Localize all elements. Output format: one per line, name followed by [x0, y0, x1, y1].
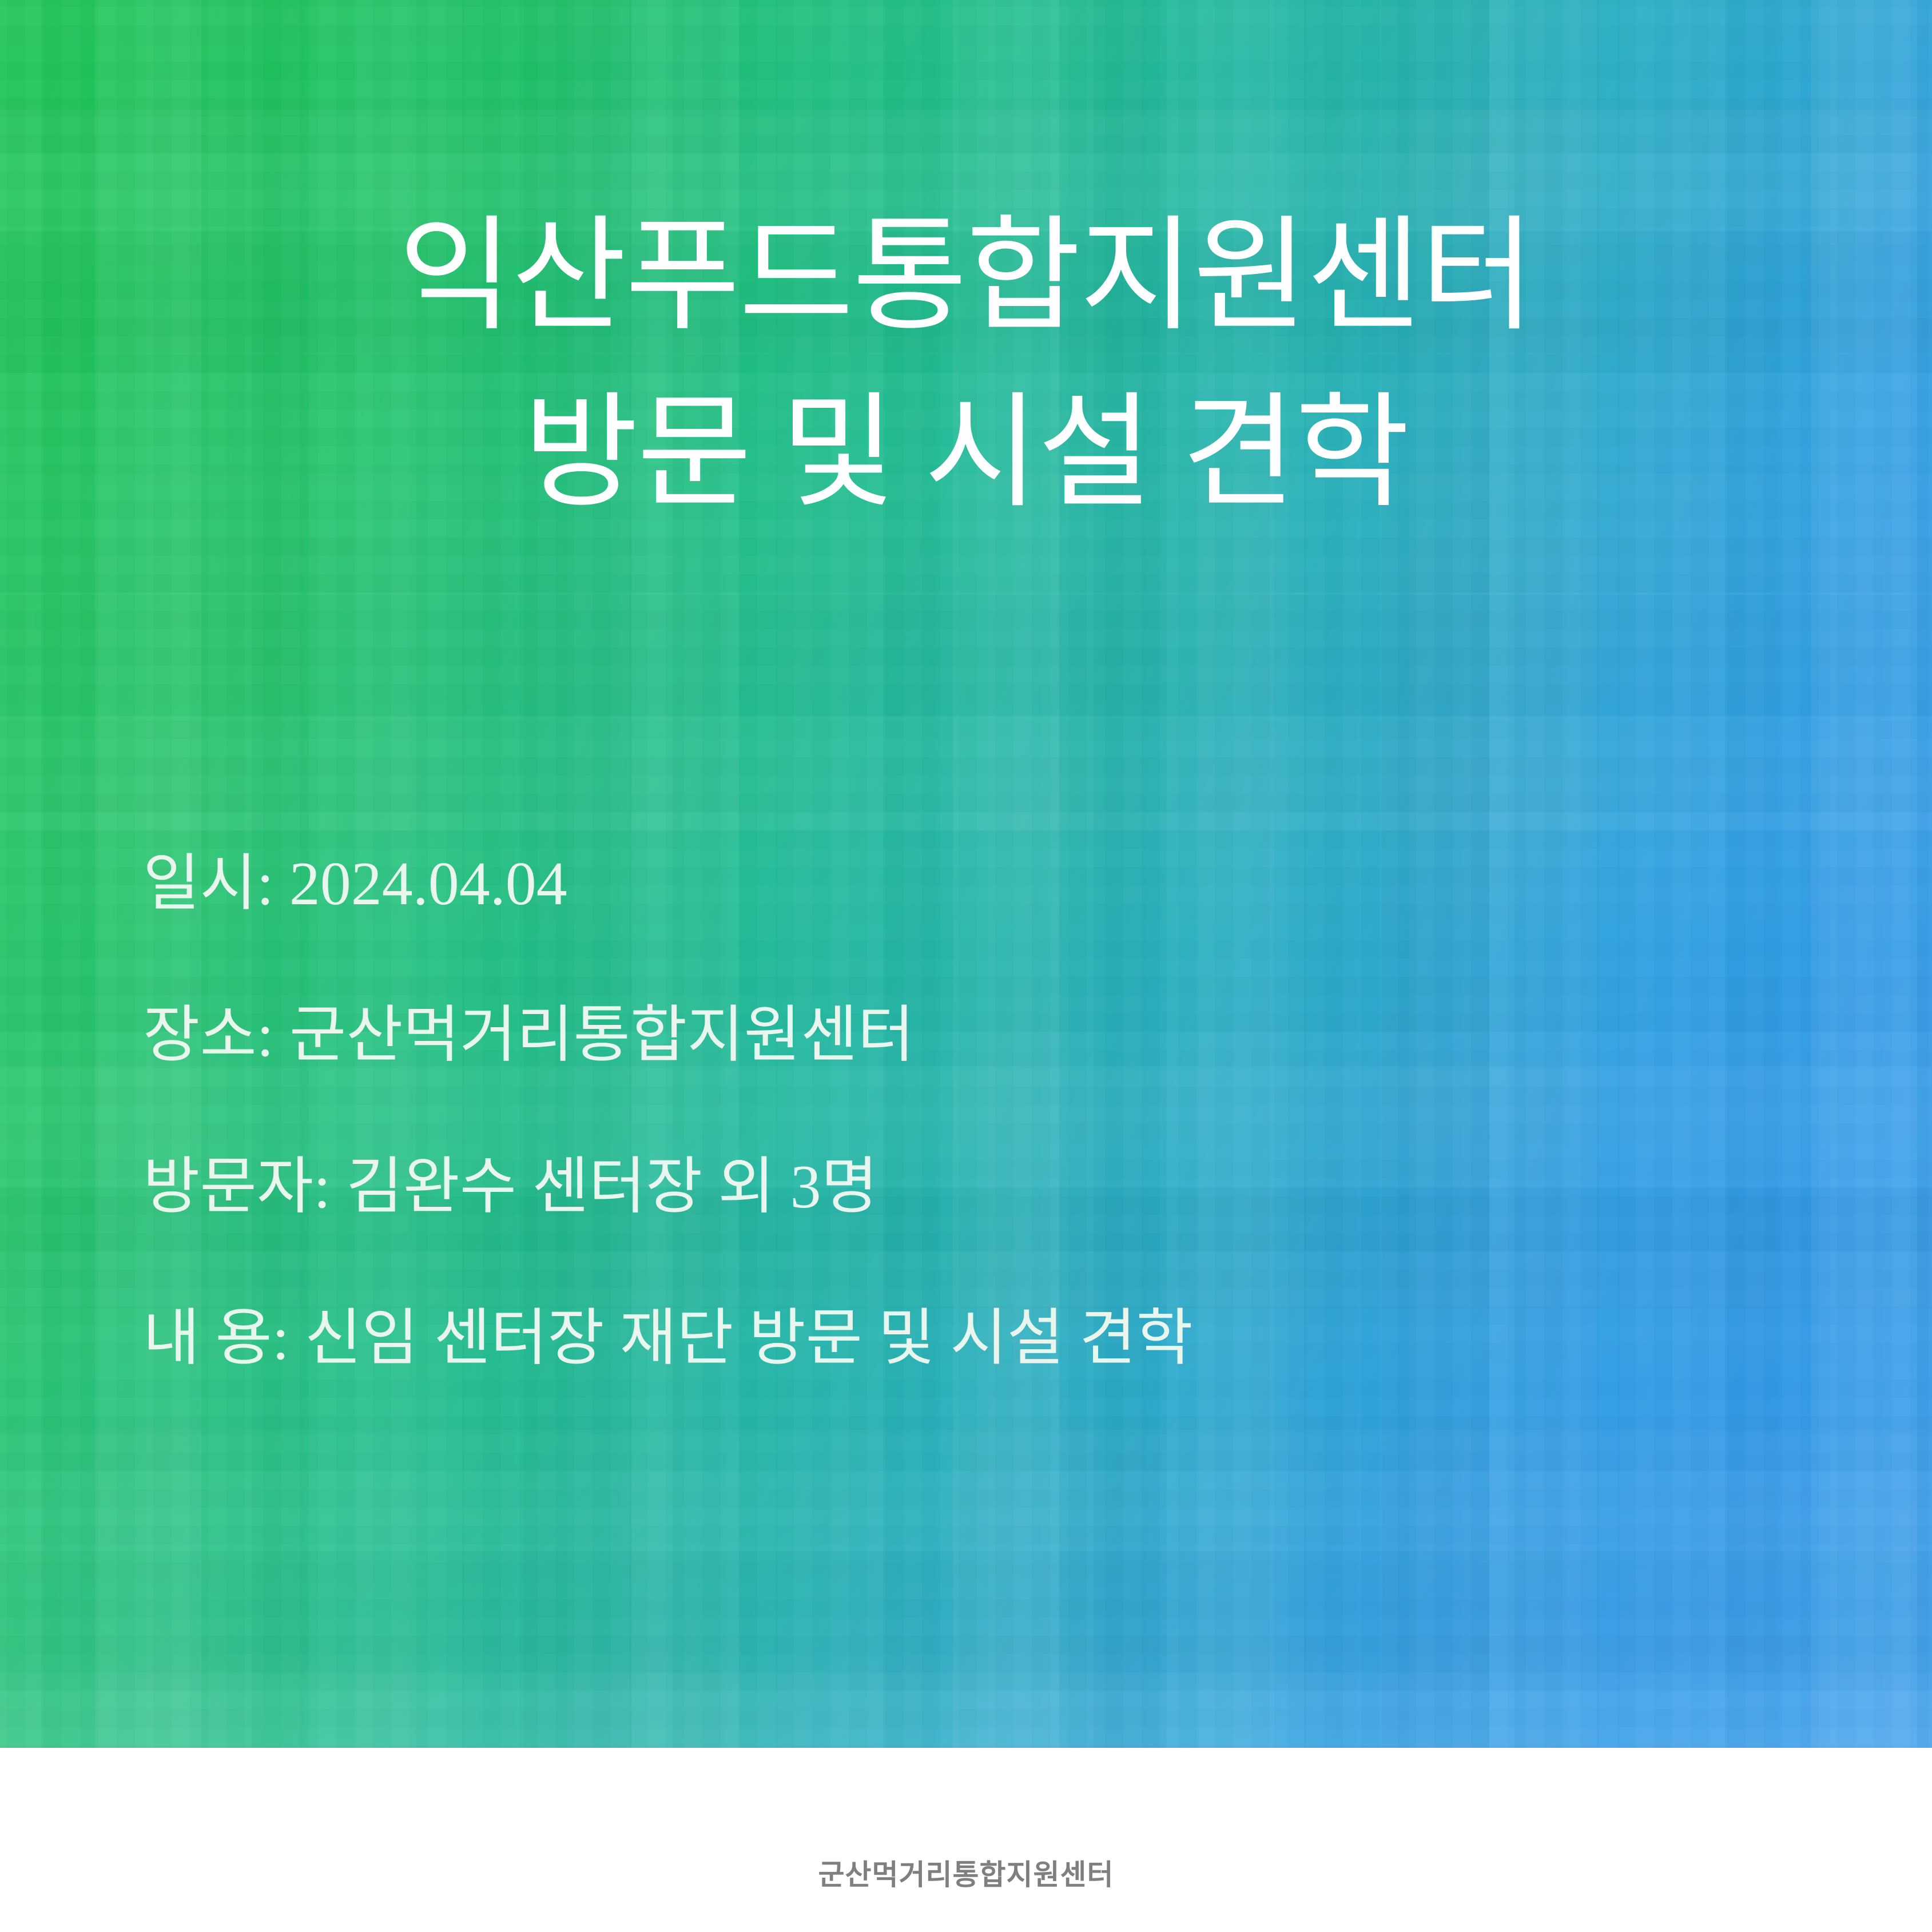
presentation-slide: 익산푸드통합지원센터 방문 및 시설 견학 일시: 2024.04.04 장소:…: [0, 0, 1932, 1932]
detail-row-location: 장소: 군산먹거리통합지원센터: [143, 1005, 1802, 1156]
detail-row-date: 일시: 2024.04.04: [143, 853, 1802, 1005]
slide-footer: 군산먹거리통합지원센터: [0, 1748, 1932, 1932]
footer-organization-name: 군산먹거리통합지원센터: [0, 1852, 1932, 1893]
detail-text-date: 일시: 2024.04.04: [143, 853, 567, 915]
detail-row-visitors: 방문자: 김완수 센터장 외 3명: [143, 1156, 1802, 1308]
detail-text-visitors: 방문자: 김완수 센터장 외 3명: [143, 1156, 878, 1218]
detail-row-content: 내 용: 신임 센터장 재단 방문 및 시설 견학: [143, 1308, 1802, 1370]
detail-text-content: 내 용: 신임 센터장 재단 방문 및 시설 견학: [143, 1308, 1193, 1370]
slide-title: 익산푸드통합지원센터 방문 및 시설 견학: [0, 204, 1932, 527]
gradient-background-panel: 익산푸드통합지원센터 방문 및 시설 견학 일시: 2024.04.04 장소:…: [0, 0, 1932, 1748]
slide-title-line-2: 방문 및 시설 견학: [0, 380, 1932, 527]
slide-title-line-1: 익산푸드통합지원센터: [0, 204, 1932, 351]
slide-details-list: 일시: 2024.04.04 장소: 군산먹거리통합지원센터 방문자: 김완수 …: [143, 853, 1802, 1370]
detail-text-location: 장소: 군산먹거리통합지원센터: [143, 1005, 915, 1067]
